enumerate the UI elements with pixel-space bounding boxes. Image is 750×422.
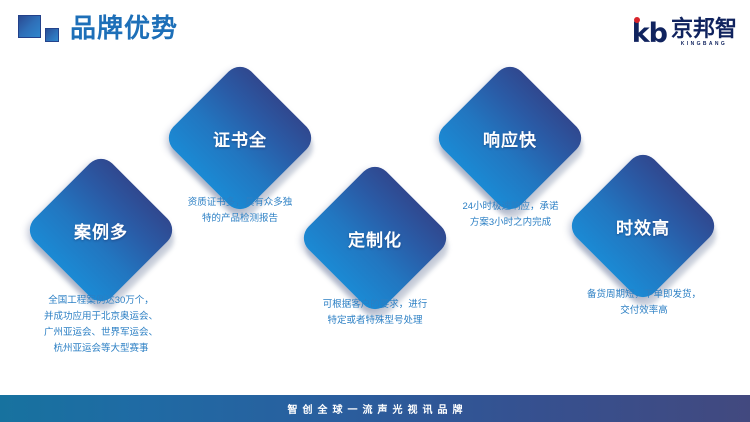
diamond-label-4: 响应快 [455,83,565,193]
advantage-caption-3: 可根据客户的要求，进行 特定或者特殊型号处理 [305,297,445,329]
logo-english-name: KINGBANG [681,41,727,48]
title-decoration [18,15,68,47]
caption-line: 资质证书多，具有众多独 [170,195,310,211]
footer-slogan: 智创全球一流声光视讯品牌 [283,401,468,416]
logo-text-block: 京邦智 KINGBANG [671,17,737,48]
page-title: 品牌优势 [70,12,178,44]
advantage-caption-4: 24小时极速响应，承诺 方案3小时之内完成 [443,199,578,231]
caption-line: 备货周期短，下单即发货， [570,287,718,303]
caption-line: 特的产品检测报告 [170,211,310,227]
diamond-label-5: 时效高 [588,171,698,281]
advantage-caption-1: 全国工程案例达30万个， 并成功应用于北京奥运会、 广州亚运会、世界军运会、 杭… [16,293,186,357]
caption-line: 特定或者特殊型号处理 [305,313,445,329]
diamond-label-1: 案例多 [46,175,156,285]
brand-logo: kb 京邦智 KINGBANG [632,14,737,48]
square-small-icon [45,28,59,42]
slide-header: 品牌优势 kb 京邦智 KINGBANG [0,0,750,60]
slide-root: 品牌优势 kb 京邦智 KINGBANG 案例多 全国工程案例达30万个， 并成… [0,0,750,422]
logo-dot-icon [634,17,640,23]
advantage-caption-2: 资质证书多，具有众多独 特的产品检测报告 [170,195,310,227]
caption-line: 交付效率高 [570,303,718,319]
advantage-diamond-4[interactable]: 响应快 [455,83,565,193]
logo-mark-kb: kb [632,20,667,48]
advantage-diamond-3[interactable]: 定制化 [320,183,430,293]
caption-line: 并成功应用于北京奥运会、 [16,309,186,325]
caption-line: 杭州亚运会等大型赛事 [16,341,186,357]
diamond-label-3: 定制化 [320,183,430,293]
caption-line: 24小时极速响应，承诺 [443,199,578,215]
advantage-diamond-5[interactable]: 时效高 [588,171,698,281]
advantage-diamond-1[interactable]: 案例多 [46,175,156,285]
diamond-label-2: 证书全 [185,83,295,193]
advantage-caption-5: 备货周期短，下单即发货， 交付效率高 [570,287,718,319]
slide-footer: 智创全球一流声光视讯品牌 [0,395,750,422]
caption-line: 全国工程案例达30万个， [16,293,186,309]
advantage-diamond-2[interactable]: 证书全 [185,83,295,193]
caption-line: 方案3小时之内完成 [443,215,578,231]
square-large-icon [18,15,41,38]
caption-line: 广州亚运会、世界军运会、 [16,325,186,341]
logo-chinese-name: 京邦智 [671,17,737,40]
caption-line: 可根据客户的要求，进行 [305,297,445,313]
